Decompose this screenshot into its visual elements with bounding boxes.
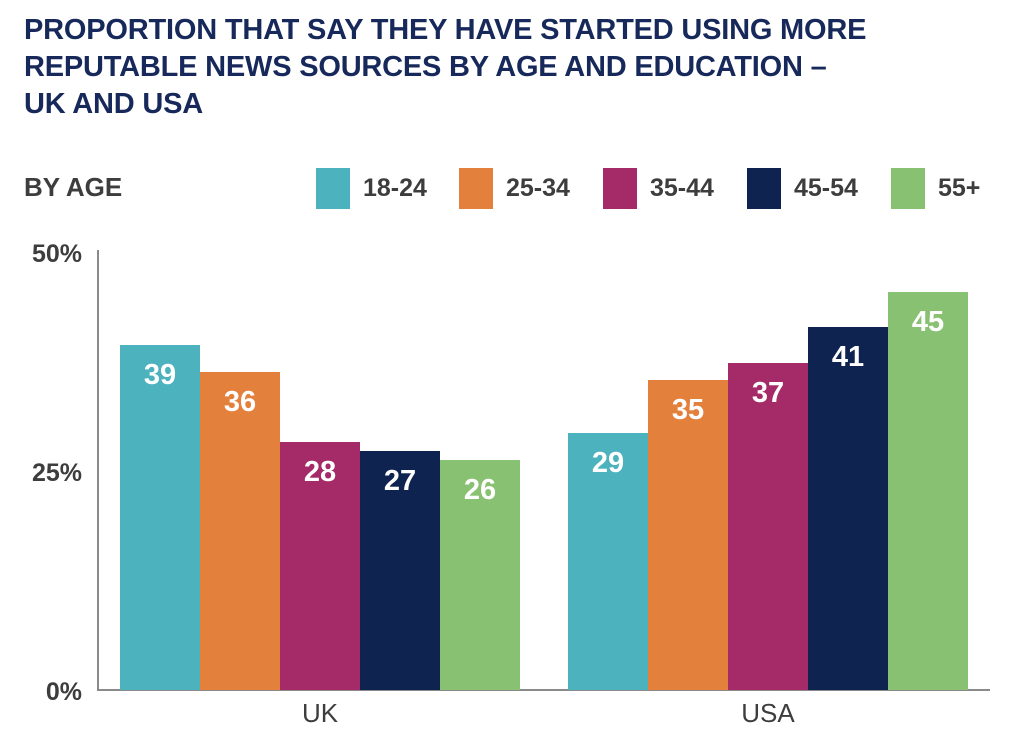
bar-chart-plot: 0% 25% 50% 39 36 28 27 26 29 35 37 41 45…: [0, 0, 1024, 749]
x-axis-label-uk: UK: [280, 698, 360, 729]
bar-value-usa-55-plus: 45: [888, 306, 968, 339]
y-tick-label-25: 25%: [32, 459, 82, 488]
bar-uk-45-54[interactable]: 27: [360, 451, 440, 690]
bar-usa-55-plus[interactable]: 45: [888, 292, 968, 690]
bar-uk-55-plus[interactable]: 26: [440, 460, 520, 690]
x-axis-label-usa: USA: [728, 698, 808, 729]
bar-value-uk-45-54: 27: [360, 465, 440, 498]
bar-uk-35-44[interactable]: 28: [280, 442, 360, 690]
bar-value-uk-25-34: 36: [200, 386, 280, 419]
bar-usa-35-44[interactable]: 37: [728, 363, 808, 690]
bar-uk-25-34[interactable]: 36: [200, 372, 280, 690]
bar-value-uk-18-24: 39: [120, 359, 200, 392]
y-axis-line: [97, 250, 99, 691]
bar-value-usa-35-44: 37: [728, 377, 808, 410]
bar-usa-45-54[interactable]: 41: [808, 327, 888, 690]
y-tick-label-50: 50%: [32, 240, 82, 269]
y-tick-label-0: 0%: [46, 678, 82, 707]
bar-value-uk-55-plus: 26: [440, 474, 520, 507]
bar-value-usa-25-34: 35: [648, 394, 728, 427]
bar-value-uk-35-44: 28: [280, 456, 360, 489]
bar-usa-25-34[interactable]: 35: [648, 380, 728, 690]
bar-value-usa-45-54: 41: [808, 341, 888, 374]
bar-usa-18-24[interactable]: 29: [568, 433, 648, 690]
bar-uk-18-24[interactable]: 39: [120, 345, 200, 690]
bar-value-usa-18-24: 29: [568, 447, 648, 480]
